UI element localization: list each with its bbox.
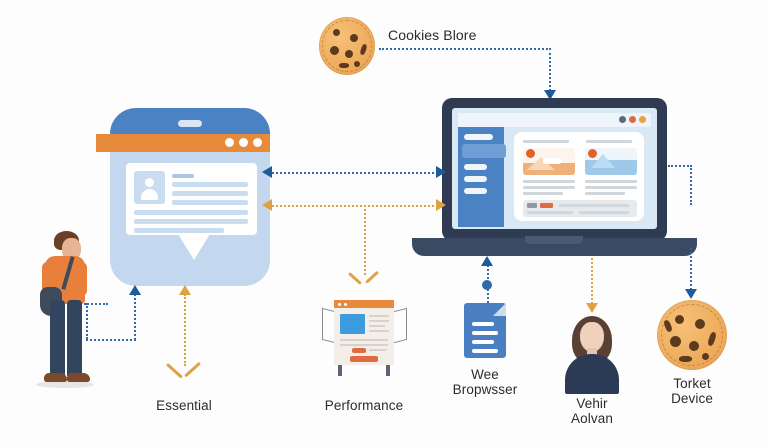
label-web-browser: Wee Bropwsser: [425, 367, 545, 397]
text-line: [369, 330, 389, 332]
person-leg: [67, 300, 82, 378]
conn-laptop-to-woman: [591, 258, 593, 304]
window-dot: [619, 116, 626, 123]
webpage-badge: [352, 348, 366, 353]
conn-essential-chevron: [166, 363, 204, 383]
text-line: [369, 320, 389, 322]
webpage-leg: [386, 365, 390, 376]
sidebar-item[interactable]: [464, 164, 487, 170]
text-line: [369, 349, 387, 351]
webpage-icon: [334, 300, 394, 365]
text-line: [340, 339, 388, 341]
conn-man-h2: [86, 339, 136, 341]
conn-man-v2: [134, 294, 136, 340]
text-line: [579, 211, 629, 214]
conn-man-v1: [86, 303, 88, 339]
cookie-chip: [675, 315, 684, 324]
label-performance: Performance: [304, 398, 424, 413]
cookie-chip: [354, 61, 360, 67]
person-arm: [76, 262, 87, 296]
conn-cookie-to-laptop-h: [379, 48, 551, 50]
text-line: [172, 200, 248, 205]
speech-bubble-tail: [178, 234, 210, 260]
webpage-leg: [338, 365, 342, 376]
chart-label-chip: [543, 158, 561, 164]
toolbar-dot: [253, 138, 262, 147]
badge-accent: [540, 203, 553, 208]
sidebar-item[interactable]: [464, 176, 487, 182]
cookie-chip: [339, 63, 349, 68]
window-dot: [639, 116, 646, 123]
person-shoe: [44, 373, 67, 382]
cookie-chip: [679, 356, 692, 362]
conn-cookie-to-laptop-v: [549, 48, 551, 91]
webpage-image: [340, 314, 365, 334]
toolbar-dot: [344, 303, 347, 306]
conn-arrow-right: [436, 199, 446, 211]
conn-man-arrow-up: [129, 285, 141, 295]
text-line: [586, 140, 632, 143]
cookie-chip: [333, 29, 340, 36]
label-torket-device: Torket Device: [632, 376, 752, 406]
conn-arrow-left: [262, 166, 272, 178]
conn-laptop-to-cookie-v2: [690, 248, 692, 290]
person-shoe: [67, 373, 90, 382]
sidebar-item-selected[interactable]: [462, 144, 506, 158]
text-line: [172, 182, 248, 187]
conn-phone-laptop-mid: [272, 205, 438, 207]
chart-accent-dot: [526, 149, 535, 158]
sidebar-item[interactable]: [464, 134, 493, 140]
text-line: [523, 186, 575, 189]
cookie-chip: [670, 336, 681, 347]
avatar: [134, 171, 165, 204]
conn-doc-arrow-up: [481, 256, 493, 266]
badge: [527, 203, 537, 208]
text-line: [559, 204, 629, 207]
avatar-body: [141, 189, 158, 200]
cookie-chip: [695, 319, 705, 329]
text-line: [369, 315, 389, 317]
laptop-trackpad-notch: [525, 236, 583, 244]
person-leg: [50, 300, 65, 378]
conn-laptop-to-cookie-v1: [690, 165, 692, 205]
toolbar-dot: [338, 303, 341, 306]
chart-accent-dot: [588, 149, 597, 158]
text-line: [523, 180, 575, 183]
text-line: [527, 211, 573, 214]
text-line: [585, 192, 625, 195]
text-line: [472, 340, 494, 344]
conn-laptop-to-cookie-h: [668, 165, 692, 167]
toolbar-dot: [225, 138, 234, 147]
chevron-stroke: [348, 272, 362, 285]
diagram-title: Cookies Blore: [388, 28, 528, 44]
avatar-torso: [565, 354, 619, 394]
person-shadow: [36, 381, 94, 388]
document-fold: [493, 303, 506, 316]
conn-arrow-left: [262, 199, 272, 211]
phone-speaker: [178, 120, 202, 127]
screen-footer-block: [523, 200, 637, 217]
text-line: [134, 228, 224, 233]
conn-arrow-right: [436, 166, 446, 178]
laptop-screen: [452, 108, 657, 229]
text-line: [472, 331, 498, 335]
window-dot: [629, 116, 636, 123]
text-line: [523, 140, 569, 143]
cookie-chip: [689, 341, 699, 351]
text-line: [585, 180, 637, 183]
text-line: [472, 322, 494, 326]
text-line: [340, 344, 388, 346]
chevron-stroke: [184, 361, 201, 377]
cookie-chip: [702, 353, 709, 360]
conn-cookie-arrow-down: [685, 289, 697, 299]
conn-woman-arrow-down: [586, 303, 598, 313]
webpage-cta-button[interactable]: [350, 356, 378, 362]
conn-phone-to-essential: [184, 294, 186, 366]
toolbar-dot: [239, 138, 248, 147]
label-essential: Essential: [124, 398, 244, 413]
text-line: [585, 186, 637, 189]
chevron-stroke: [166, 363, 183, 379]
diagram-canvas: Cookies Blore: [0, 0, 768, 448]
conn-branch-webpage: [364, 205, 366, 275]
cookie-chip: [330, 46, 339, 55]
conn-phone-laptop-top: [272, 172, 438, 174]
cookie-chip: [350, 34, 358, 42]
cookie-chip: [345, 50, 353, 58]
conn-essential-arrow-up: [179, 285, 191, 295]
cookie-icon: [319, 17, 375, 75]
cookie-icon: [657, 300, 727, 370]
sidebar-item[interactable]: [464, 188, 487, 194]
text-line: [472, 349, 498, 353]
text-line: [134, 210, 248, 215]
avatar-head: [145, 178, 154, 187]
webpage-toolbar: [334, 300, 394, 308]
text-line: [369, 325, 385, 327]
screen-content-card: [514, 132, 644, 221]
chevron-stroke: [365, 271, 379, 284]
conn-branch-webpage-chevron: [348, 272, 382, 290]
text-line: [172, 174, 194, 178]
text-line: [172, 191, 248, 196]
text-line: [134, 219, 248, 224]
text-line: [523, 192, 563, 195]
conn-doc-node-dot: [482, 280, 492, 290]
